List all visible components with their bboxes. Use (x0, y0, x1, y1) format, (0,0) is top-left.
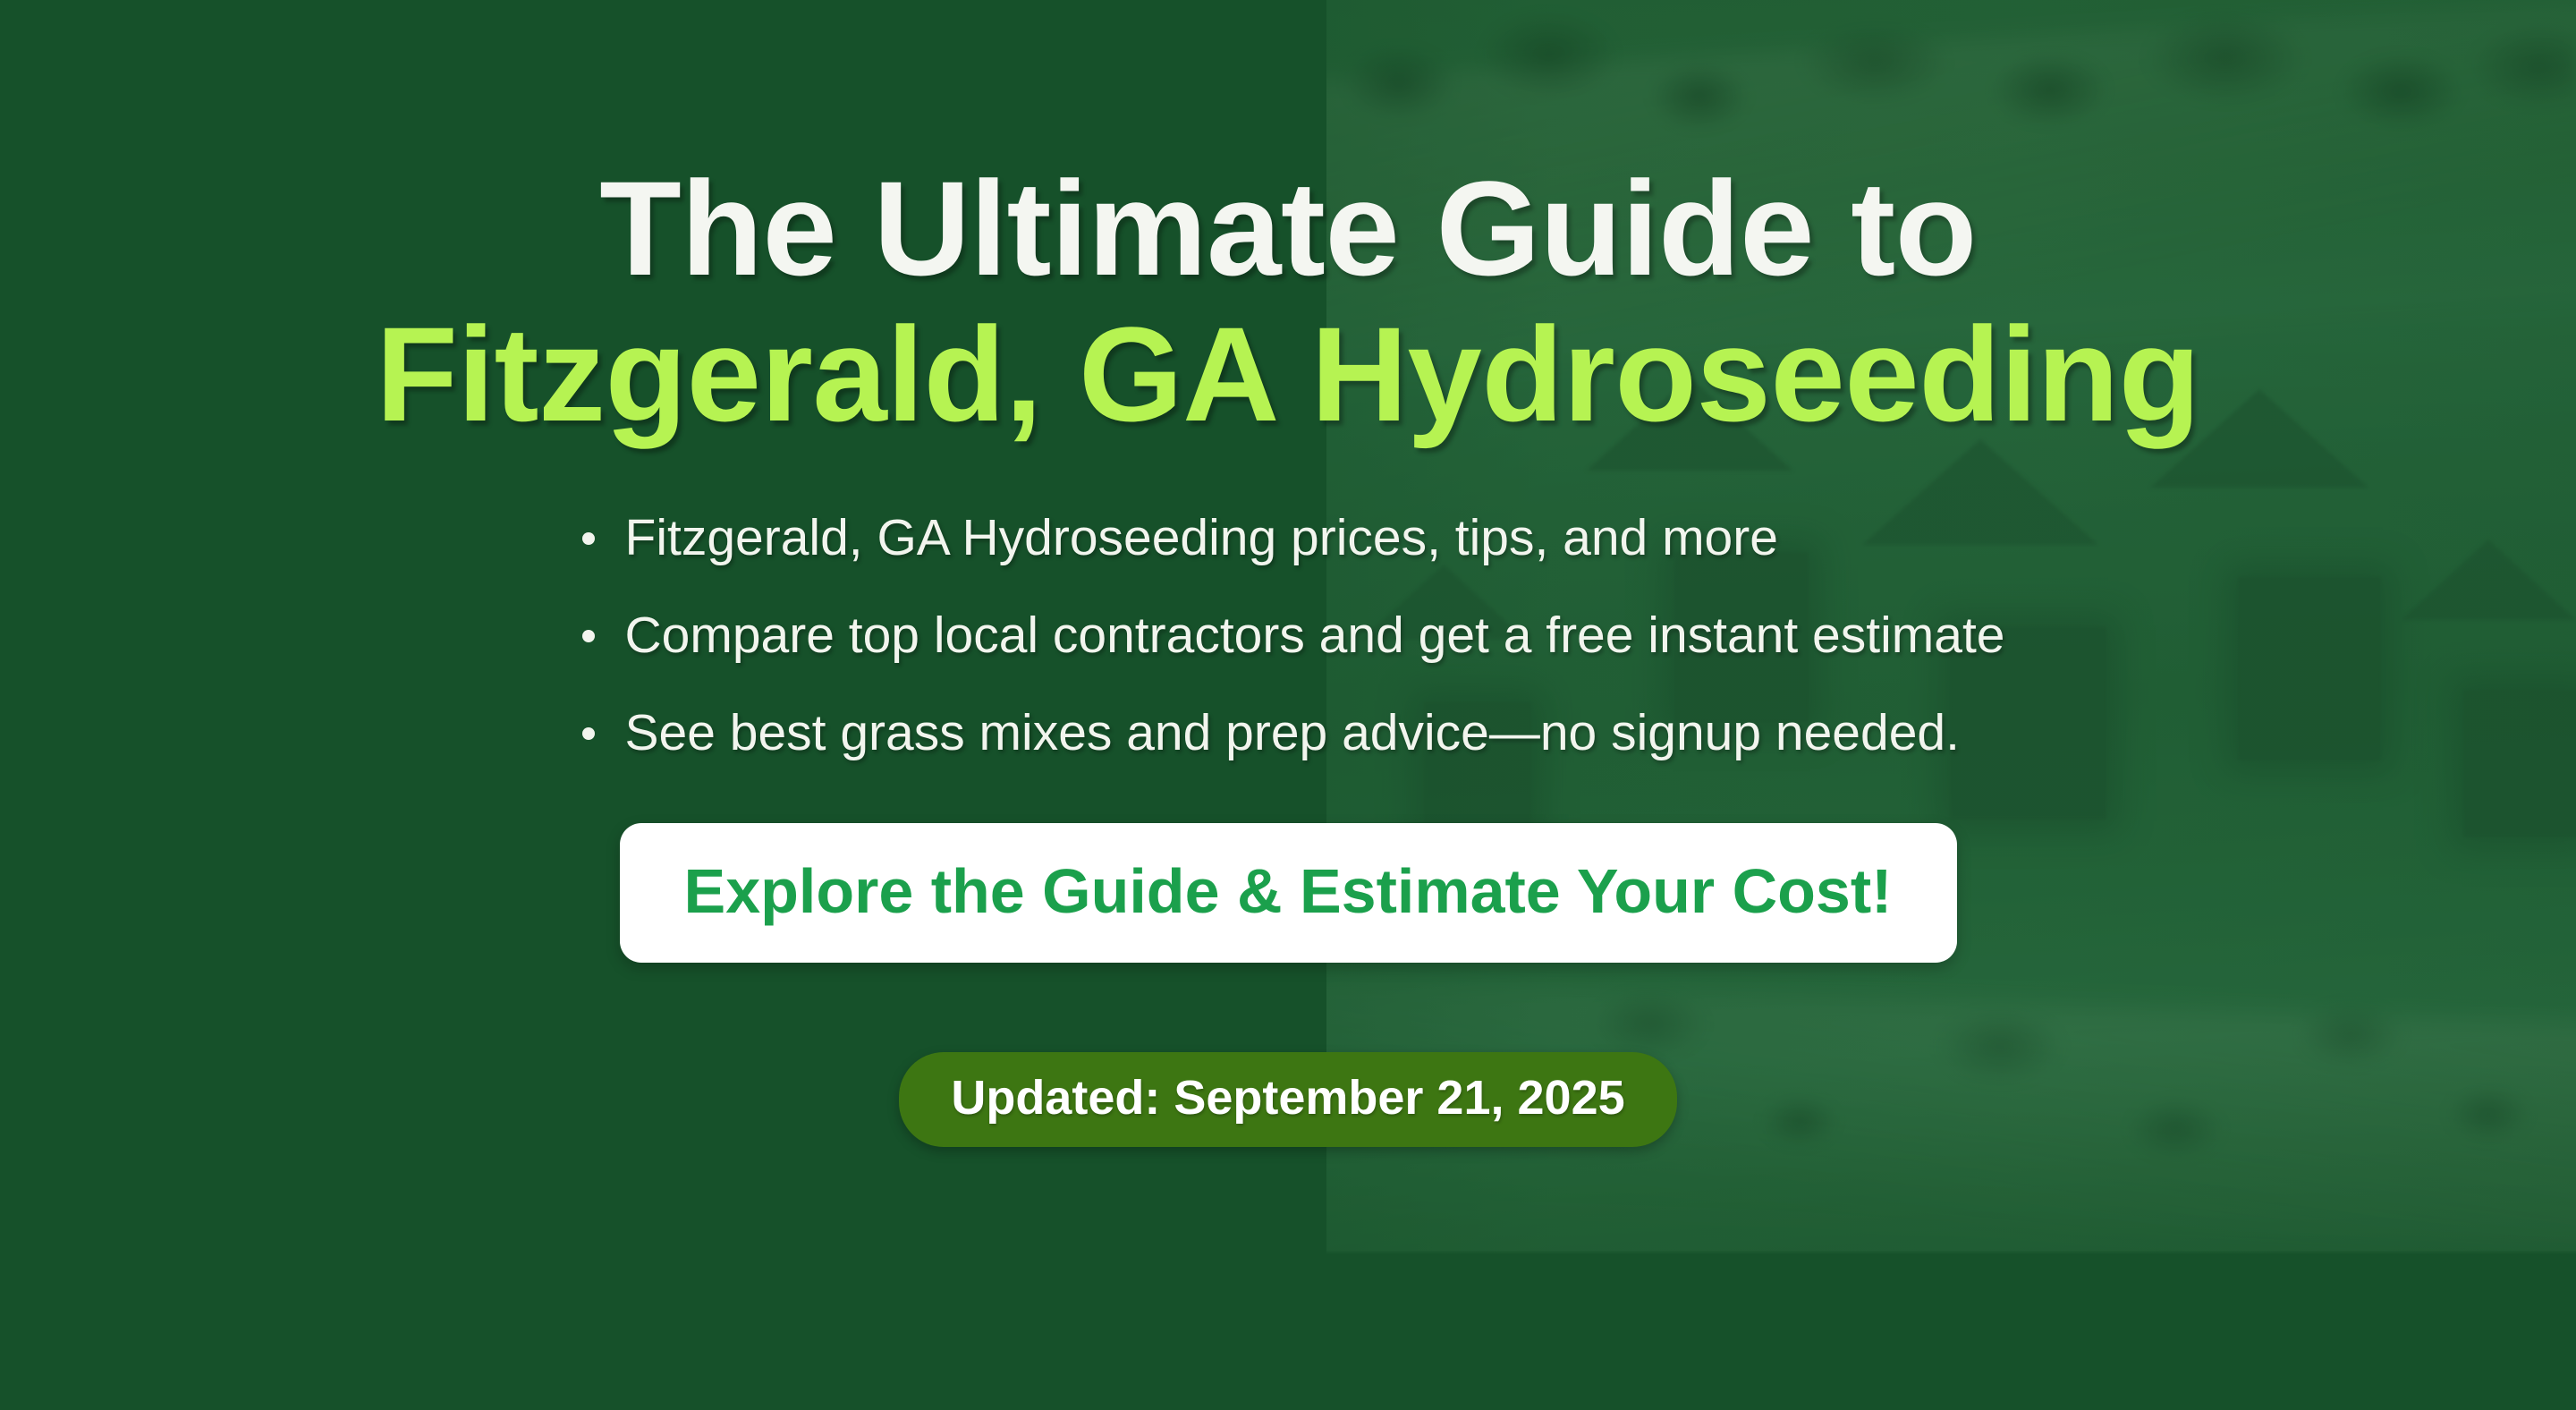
bullet-dot-icon (582, 532, 595, 545)
page-title: The Ultimate Guide to Fitzgerald, GA Hyd… (0, 161, 2576, 443)
list-item: Fitzgerald, GA Hydroseeding prices, tips… (572, 513, 2005, 564)
list-item: See best grass mixes and prep advice—no … (572, 708, 2005, 759)
list-item: Compare top local contractors and get a … (572, 610, 2005, 661)
explore-guide-cta-button[interactable]: Explore the Guide & Estimate Your Cost! (620, 823, 1957, 963)
bullet-dot-icon (582, 630, 595, 642)
benefit-list: Fitzgerald, GA Hydroseeding prices, tips… (572, 513, 2005, 805)
title-line-primary: The Ultimate Guide to (0, 161, 2576, 295)
last-updated-badge: Updated: September 21, 2025 (899, 1052, 1676, 1147)
list-item-label: See best grass mixes and prep advice—no … (625, 704, 1960, 761)
title-line-accent: Fitzgerald, GA Hydroseeding (0, 306, 2576, 443)
bullet-dot-icon (582, 727, 595, 740)
list-item-label: Fitzgerald, GA Hydroseeding prices, tips… (625, 509, 1778, 566)
list-item-label: Compare top local contractors and get a … (625, 607, 2005, 664)
hero-content: The Ultimate Guide to Fitzgerald, GA Hyd… (0, 0, 2576, 1410)
hero-banner: The Ultimate Guide to Fitzgerald, GA Hyd… (0, 0, 2576, 1410)
